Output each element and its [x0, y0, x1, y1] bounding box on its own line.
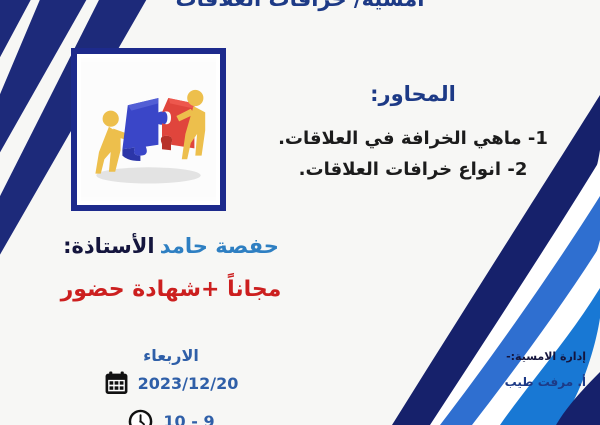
organiser-label: إدارة الامسية:-: [505, 350, 586, 363]
calendar-icon: [104, 370, 129, 396]
topic-item-2: 2- انواع خرافات العلاقات.: [248, 159, 578, 180]
topics-section: المحاور: 1- ماهي الخرافة في العلاقات. 2-…: [248, 82, 578, 190]
poster-title: امسيه/ خرافات العلاقات: [0, 0, 600, 11]
poster-title-text: امسيه/ خرافات العلاقات: [176, 0, 425, 11]
schedule-time-row: 10 - 9: [26, 408, 316, 425]
organiser-name: أ. مرفت طيب: [505, 375, 586, 389]
presenter-name: حفصة حامد: [160, 234, 279, 258]
schedule-date: 2023/12/20: [138, 374, 239, 393]
schedule-time: 10 - 9: [163, 412, 214, 425]
topics-heading: المحاور:: [248, 82, 578, 106]
presenter-label: الأستاذة:: [63, 234, 155, 258]
presenter-line: حفصة حامد الأستاذة:: [26, 234, 316, 258]
puzzle-teamwork-icon: [81, 58, 216, 201]
offer-text: مجاناً +شهادة حضور: [26, 277, 316, 302]
schedule-date-row: 2023/12/20: [26, 370, 316, 396]
illustration-frame: [71, 48, 226, 211]
clock-icon: [127, 408, 154, 425]
schedule-day: الاربعاء: [26, 346, 316, 365]
topic-item-1: 1- ماهي الخرافة في العلاقات.: [248, 128, 578, 149]
illustration-inner: [81, 58, 216, 201]
organiser-section: إدارة الامسية:- أ. مرفت طيب: [505, 350, 586, 389]
event-poster: امسيه/ خرافات العلاقات: [0, 0, 600, 425]
